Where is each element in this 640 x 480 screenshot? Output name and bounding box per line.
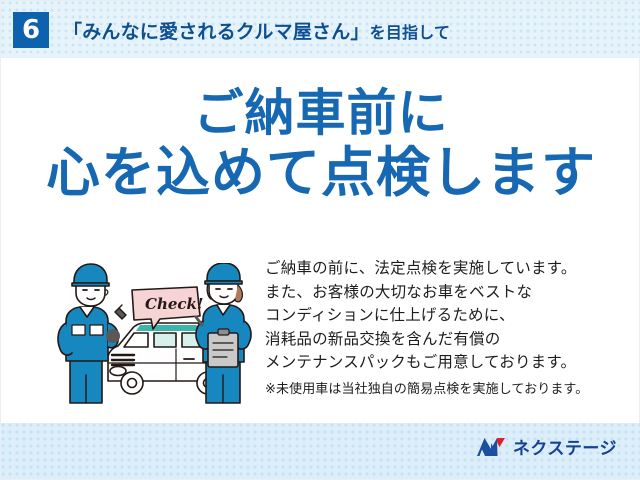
section-number-badge: 6 [13, 12, 49, 48]
header-inner: 6 「みんなに愛されるクルマ屋さん」を目指して [13, 12, 450, 48]
page-title-suffix: を目指して [370, 25, 451, 42]
headline-line-2: 心を込めて点検します [1, 143, 640, 203]
footer-band: ネクステージ [1, 423, 640, 479]
body-line: コンディションに仕上げるために、 [265, 304, 625, 328]
brand-logo: ネクステージ [476, 434, 617, 459]
body-line: 消耗品の新品交換を含んだ有償の [265, 328, 625, 352]
body-copy: ご納車の前に、法定点検を実施しています。 また、お客様の大切なお車をベストな コ… [265, 257, 625, 375]
body-line: ご納車の前に、法定点検を実施しています。 [265, 257, 625, 281]
header-band: 6 「みんなに愛されるクルマ屋さん」を目指して [1, 1, 640, 58]
page-title-main: 「みんなに愛されるクルマ屋さん」 [63, 22, 370, 43]
brand-name-text: ネクステージ [513, 434, 617, 459]
mechanics-illustration: Check! [56, 263, 261, 408]
promo-page: 6 「みんなに愛されるクルマ屋さん」を目指して ご納車前に 心を込めて点検します [0, 0, 640, 480]
headline: ご納車前に 心を込めて点検します [1, 83, 640, 203]
check-bubble-text: Check! [145, 295, 204, 313]
body-line: また、お客様の大切なお車をベストな [265, 281, 625, 305]
nextage-n-mark-icon [476, 437, 506, 457]
disclaimer-note: ※未使用車は当社独自の簡易点検を実施しております。 [265, 380, 635, 398]
male-mechanic [58, 264, 126, 403]
headline-line-1: ご納車前に [1, 83, 640, 143]
page-title: 「みんなに愛されるクルマ屋さん」を目指して [63, 17, 450, 44]
body-line: メンテナンスパックもご用意しております。 [265, 351, 625, 375]
